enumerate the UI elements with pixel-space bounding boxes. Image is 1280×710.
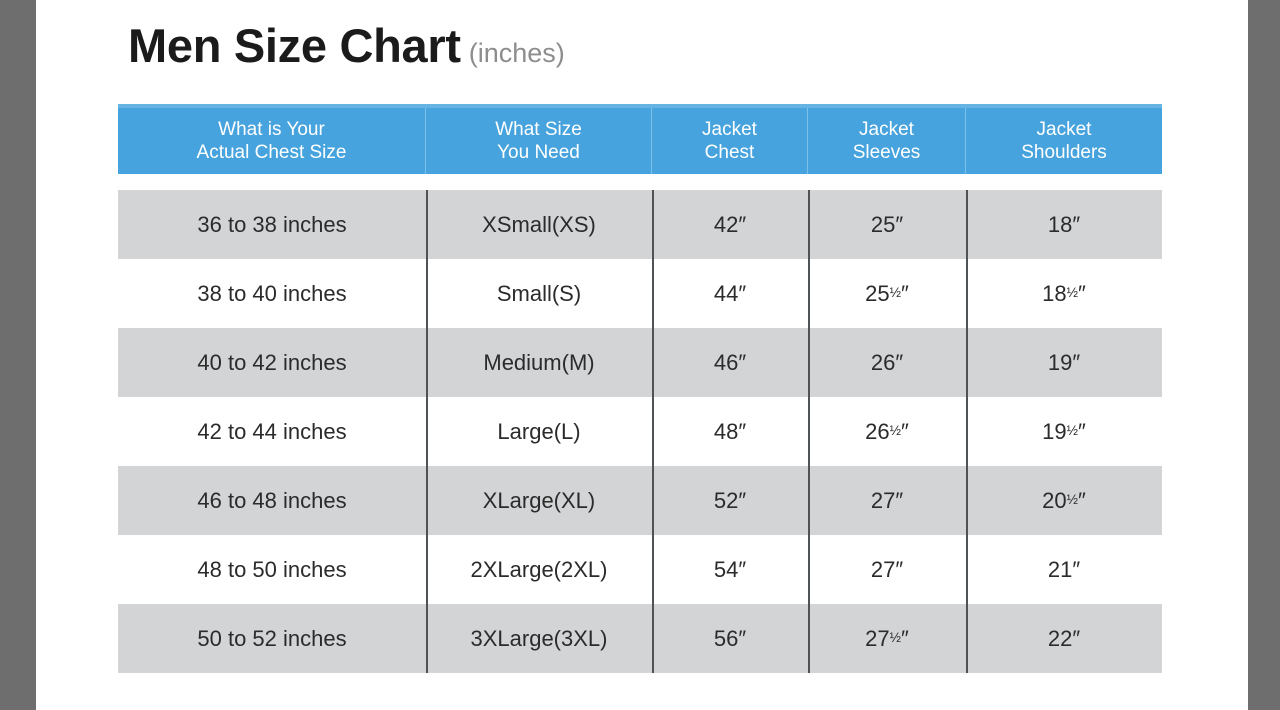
- cell-jacket-chest: 42″: [652, 190, 808, 259]
- cell-jacket-shoulders: 18″: [966, 190, 1162, 259]
- column-header-line2: Shoulders: [1021, 141, 1107, 164]
- cell-jacket-chest: 52″: [652, 466, 808, 535]
- letterbox-band-left: [0, 0, 36, 710]
- cell-jacket-sleeves: 25½″: [808, 259, 966, 328]
- cell-chest-range: 46 to 48 inches: [118, 466, 426, 535]
- column-header-line2: Chest: [705, 141, 755, 164]
- cell-size-needed: Small(S): [426, 259, 652, 328]
- column-header-line1: Jacket: [1037, 118, 1092, 141]
- divider-1: [426, 190, 428, 673]
- cell-jacket-shoulders: 18½″: [966, 259, 1162, 328]
- letterbox-band-right: [1248, 0, 1280, 710]
- table-row: 42 to 44 inchesLarge(L)48″26½″19½″: [118, 397, 1162, 466]
- table-row: 46 to 48 inchesXLarge(XL)52″27″20½″: [118, 466, 1162, 535]
- column-header-line2: You Need: [497, 141, 580, 164]
- page-title-unit: (inches): [469, 38, 565, 68]
- cell-jacket-sleeves: 27½″: [808, 604, 966, 673]
- divider-2: [652, 190, 654, 673]
- cell-chest-range: 48 to 50 inches: [118, 535, 426, 604]
- screenshot-stage: Men Size Chart(inches) What is Your Actu…: [0, 0, 1280, 710]
- cell-jacket-sleeves: 27″: [808, 466, 966, 535]
- column-header-chest-range: What is Your Actual Chest Size: [118, 108, 426, 174]
- column-header-jacket-chest: Jacket Chest: [652, 108, 808, 174]
- cell-jacket-shoulders: 22″: [966, 604, 1162, 673]
- column-header-line1: What Size: [495, 118, 582, 141]
- cell-jacket-shoulders: 19½″: [966, 397, 1162, 466]
- divider-4: [966, 190, 968, 673]
- cell-chest-range: 40 to 42 inches: [118, 328, 426, 397]
- chart-page: Men Size Chart(inches) What is Your Actu…: [36, 0, 1248, 710]
- cell-jacket-sleeves: 26½″: [808, 397, 966, 466]
- column-header-line1: Jacket: [859, 118, 914, 141]
- cell-jacket-chest: 56″: [652, 604, 808, 673]
- cell-size-needed: XSmall(XS): [426, 190, 652, 259]
- table-header-row: What is Your Actual Chest Size What Size…: [118, 104, 1162, 174]
- column-header-line1: What is Your: [218, 118, 325, 141]
- size-chart-table: What is Your Actual Chest Size What Size…: [118, 104, 1162, 673]
- cell-chest-range: 36 to 38 inches: [118, 190, 426, 259]
- column-header-jacket-sleeves: Jacket Sleeves: [808, 108, 966, 174]
- cell-size-needed: Large(L): [426, 397, 652, 466]
- cell-jacket-chest: 54″: [652, 535, 808, 604]
- cell-size-needed: 3XLarge(3XL): [426, 604, 652, 673]
- table-row: 36 to 38 inchesXSmall(XS)42″25″18″: [118, 190, 1162, 259]
- column-header-jacket-shoulders: Jacket Shoulders: [966, 108, 1162, 174]
- table-row: 40 to 42 inchesMedium(M)46″26″19″: [118, 328, 1162, 397]
- column-header-size-needed: What Size You Need: [426, 108, 652, 174]
- cell-jacket-sleeves: 26″: [808, 328, 966, 397]
- cell-jacket-shoulders: 19″: [966, 328, 1162, 397]
- cell-size-needed: 2XLarge(2XL): [426, 535, 652, 604]
- column-header-line2: Sleeves: [853, 141, 921, 164]
- cell-jacket-shoulders: 20½″: [966, 466, 1162, 535]
- table-row: 38 to 40 inchesSmall(S)44″25½″18½″: [118, 259, 1162, 328]
- cell-size-needed: XLarge(XL): [426, 466, 652, 535]
- cell-jacket-sleeves: 27″: [808, 535, 966, 604]
- table-body: 36 to 38 inchesXSmall(XS)42″25″18″38 to …: [118, 190, 1162, 673]
- cell-chest-range: 50 to 52 inches: [118, 604, 426, 673]
- column-header-line1: Jacket: [702, 118, 757, 141]
- divider-3: [808, 190, 810, 673]
- cell-size-needed: Medium(M): [426, 328, 652, 397]
- column-header-line2: Actual Chest Size: [197, 141, 347, 164]
- page-title: Men Size Chart(inches): [128, 18, 565, 73]
- table-row: 50 to 52 inches3XLarge(3XL)56″27½″22″: [118, 604, 1162, 673]
- cell-jacket-chest: 44″: [652, 259, 808, 328]
- page-title-main: Men Size Chart: [128, 19, 461, 72]
- cell-jacket-chest: 48″: [652, 397, 808, 466]
- cell-jacket-shoulders: 21″: [966, 535, 1162, 604]
- cell-chest-range: 38 to 40 inches: [118, 259, 426, 328]
- table-row: 48 to 50 inches2XLarge(2XL)54″27″21″: [118, 535, 1162, 604]
- cell-jacket-chest: 46″: [652, 328, 808, 397]
- cell-chest-range: 42 to 44 inches: [118, 397, 426, 466]
- cell-jacket-sleeves: 25″: [808, 190, 966, 259]
